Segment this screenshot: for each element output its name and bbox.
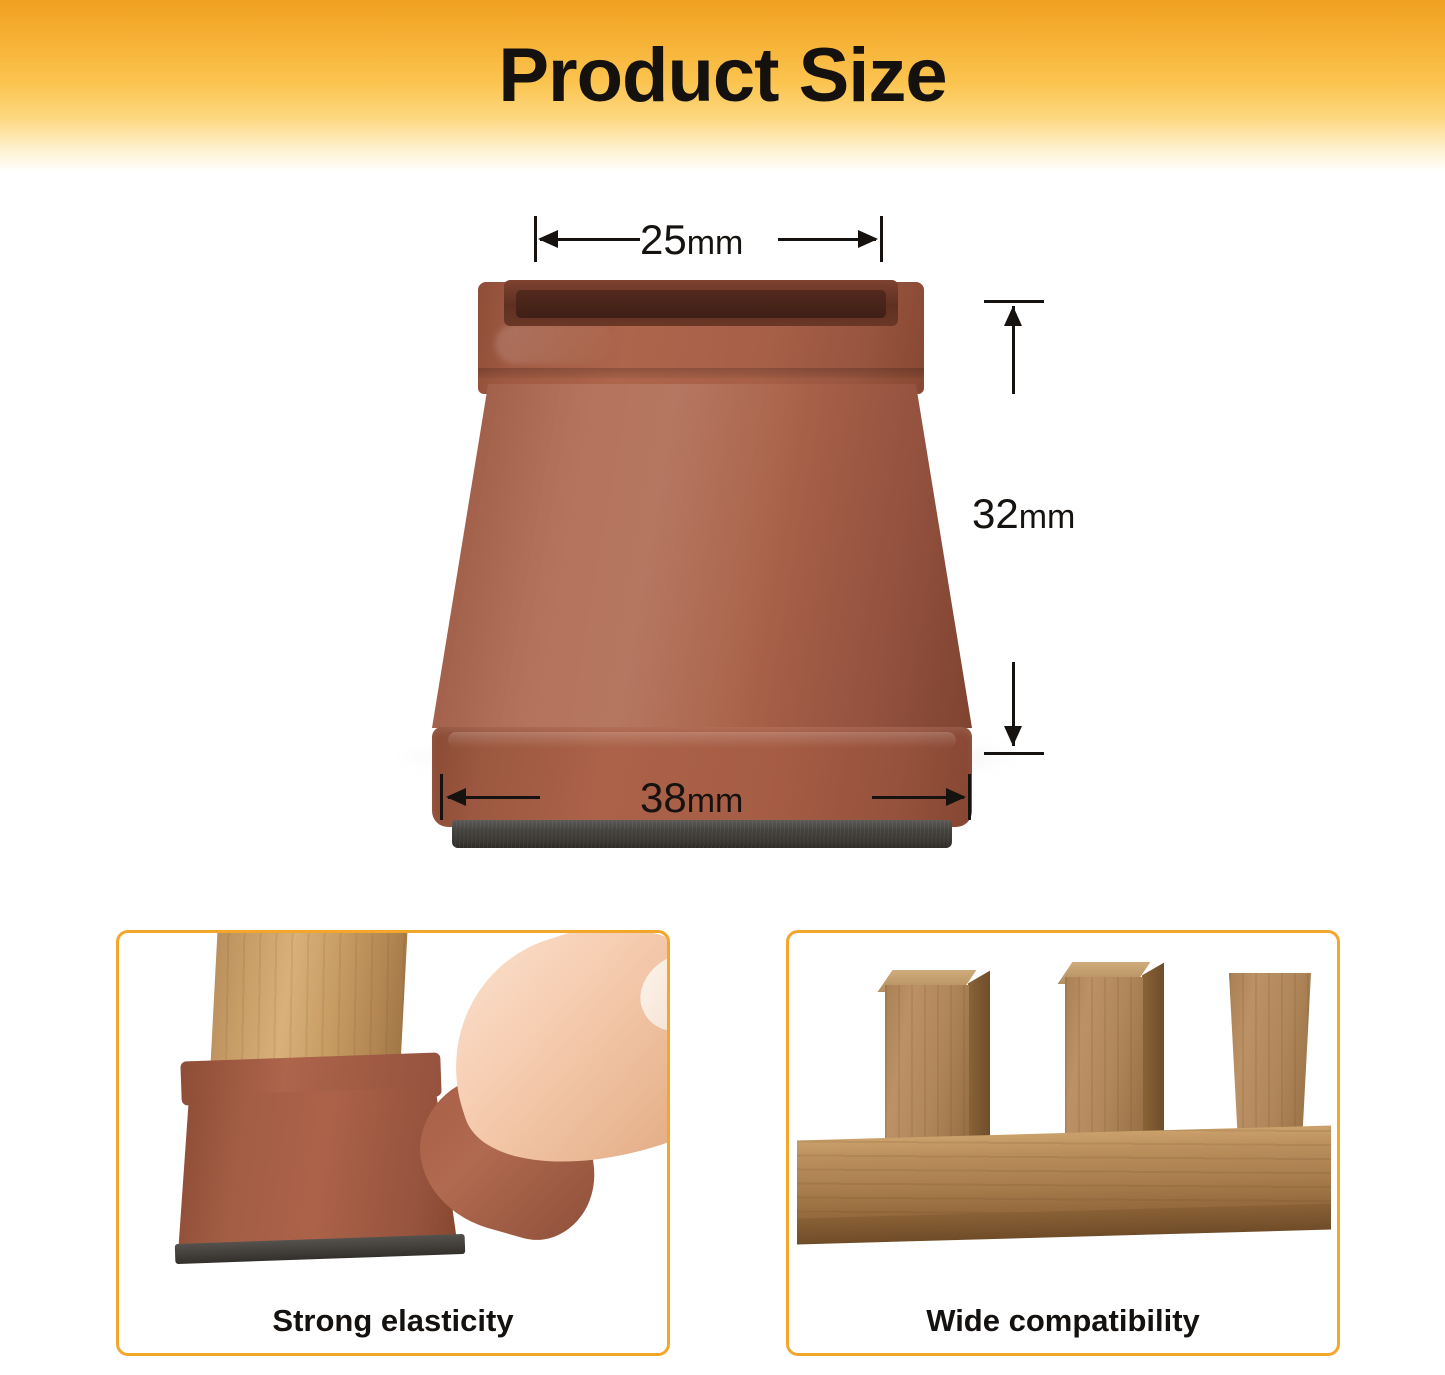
leg-block-rectangular [1065,977,1143,1157]
panel-wide-compatibility-caption: Wide compatibility [789,1303,1337,1339]
leg-block-rectangular-side [1142,963,1164,1156]
dim-top-unit: mm [687,224,744,262]
cap-opening-cavity [516,290,886,318]
panel-wide-compatibility: Wide compatibility [786,930,1340,1356]
cap-collar-highlight [495,324,615,364]
cap-body-closeup [172,1086,457,1256]
feature-panels: Strong elasticity Wide compatibility [0,930,1445,1375]
felt-pad [452,820,952,848]
panel-strong-elasticity-caption: Strong elasticity [119,1303,667,1339]
leg-block-square-face [885,985,969,1157]
dim-bottom-label: 38mm [640,774,743,822]
leg-block-square [885,985,969,1157]
dim-top-value: 25 [640,216,687,263]
dim-bottom-unit: mm [687,782,744,820]
leg-block-square-side [968,971,990,1156]
dim-right-tick-top [984,300,1044,303]
dim-right-arrow-down [1004,726,1022,746]
dim-right-tick-bottom [984,752,1044,755]
dim-right-unit: mm [1019,498,1076,536]
dim-bottom-arrow-right [946,788,966,806]
dim-top-tick-right [880,216,883,262]
panel-strong-elasticity-art [119,933,667,1271]
dim-right-value: 32 [972,490,1019,537]
page-title: Product Size [0,38,1445,114]
cap-collar-groove [478,368,924,378]
dim-bottom-value: 38 [640,774,687,821]
header-banner: Product Size [0,0,1445,172]
dim-top-label: 25mm [640,216,743,264]
dim-bottom-arrow-left [446,788,466,806]
dim-top-tick-left [534,216,537,262]
dim-right-arrow-up [1004,306,1022,326]
cap-foot-highlight [448,732,956,748]
product-photo-stage: 25mm 32mm 38mm [0,172,1445,922]
dim-right-label: 32mm [972,490,1075,538]
leg-block-rectangular-face [1065,977,1143,1157]
dim-top-arrow-left [538,230,558,248]
panel-wide-compatibility-art [789,933,1337,1271]
panel-strong-elasticity: Strong elasticity [116,930,670,1356]
dim-bottom-tick-left [440,774,443,820]
dim-bottom-tick-right [968,774,971,820]
cap-body-sheen [432,384,972,784]
dim-top-arrow-right [858,230,878,248]
